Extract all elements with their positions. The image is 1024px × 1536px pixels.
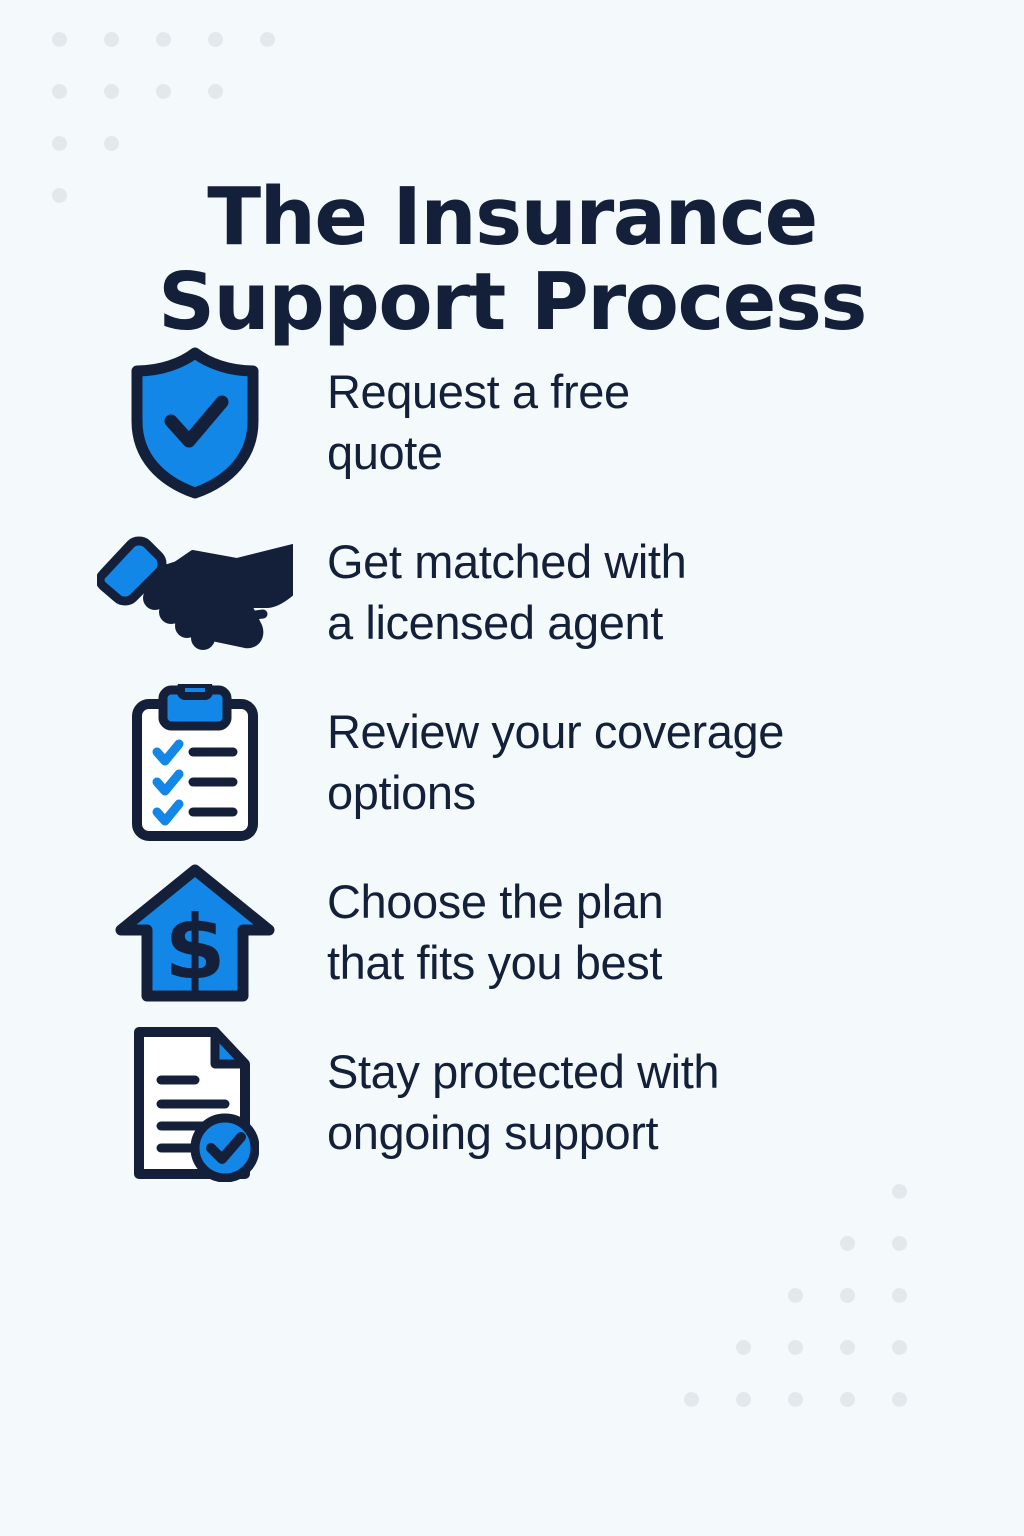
step-5-label-line-2: ongoing support (327, 1103, 719, 1164)
decorative-dot (52, 84, 67, 99)
list-item-step-1: Request a free quote (0, 338, 1024, 508)
list-item-step-3: Review your coverage options (0, 678, 1024, 848)
step-4-label-line-1: Choose the plan (327, 872, 663, 933)
svg-text:$: $ (164, 896, 225, 999)
decorative-dot (788, 1392, 803, 1407)
decorative-dot (260, 32, 275, 47)
page-title-line-1: The Insurance (0, 175, 1024, 260)
decorative-dot (52, 32, 67, 47)
decorative-dot (104, 32, 119, 47)
page-title-line-2: Support Process (0, 260, 1024, 345)
step-2-label-line-2: a licensed agent (327, 593, 686, 654)
decorative-dot (788, 1288, 803, 1303)
decorative-dot (840, 1236, 855, 1251)
decorative-dot (208, 84, 223, 99)
house-dollar-icon: $ (95, 853, 295, 1013)
step-2-label: Get matched with a licensed agent (327, 532, 686, 653)
step-2-label-line-1: Get matched with (327, 532, 686, 593)
page-title: The Insurance Support Process (0, 175, 1024, 346)
step-4-label-line-2: that fits you best (327, 933, 663, 994)
step-1-label: Request a free quote (327, 362, 630, 483)
decorative-dot (892, 1236, 907, 1251)
decorative-dot (892, 1340, 907, 1355)
decorative-dot (684, 1392, 699, 1407)
decorative-dot (208, 32, 223, 47)
decorative-dot (840, 1392, 855, 1407)
decorative-dot (788, 1340, 803, 1355)
decorative-dot (892, 1288, 907, 1303)
step-1-label-line-2: quote (327, 423, 630, 484)
list-item-step-4: $ Choose the plan that fits you best (0, 848, 1024, 1018)
document-check-icon (95, 1023, 295, 1183)
decorative-dot (156, 84, 171, 99)
decorative-dot (156, 32, 171, 47)
list-item-step-2: Get matched with a licensed agent (0, 508, 1024, 678)
step-3-label-line-2: options (327, 763, 784, 824)
decorative-dots-bottom-right (684, 1184, 984, 1464)
step-1-label-line-1: Request a free (327, 362, 630, 423)
step-4-label: Choose the plan that fits you best (327, 872, 663, 993)
decorative-dot (892, 1392, 907, 1407)
decorative-dot (736, 1392, 751, 1407)
decorative-dot (104, 136, 119, 151)
step-5-label: Stay protected with ongoing support (327, 1042, 719, 1163)
decorative-dot (104, 84, 119, 99)
handshake-icon (95, 513, 295, 673)
step-3-label: Review your coverage options (327, 702, 784, 823)
decorative-dot (736, 1340, 751, 1355)
step-3-label-line-1: Review your coverage (327, 702, 784, 763)
decorative-dot (840, 1288, 855, 1303)
decorative-dot (840, 1340, 855, 1355)
list-item-step-5: Stay protected with ongoing support (0, 1018, 1024, 1188)
steps-list: Request a free quote (0, 338, 1024, 1188)
step-5-label-line-1: Stay protected with (327, 1042, 719, 1103)
decorative-dot (52, 136, 67, 151)
clipboard-checklist-icon (95, 683, 295, 843)
shield-check-icon (95, 343, 295, 503)
